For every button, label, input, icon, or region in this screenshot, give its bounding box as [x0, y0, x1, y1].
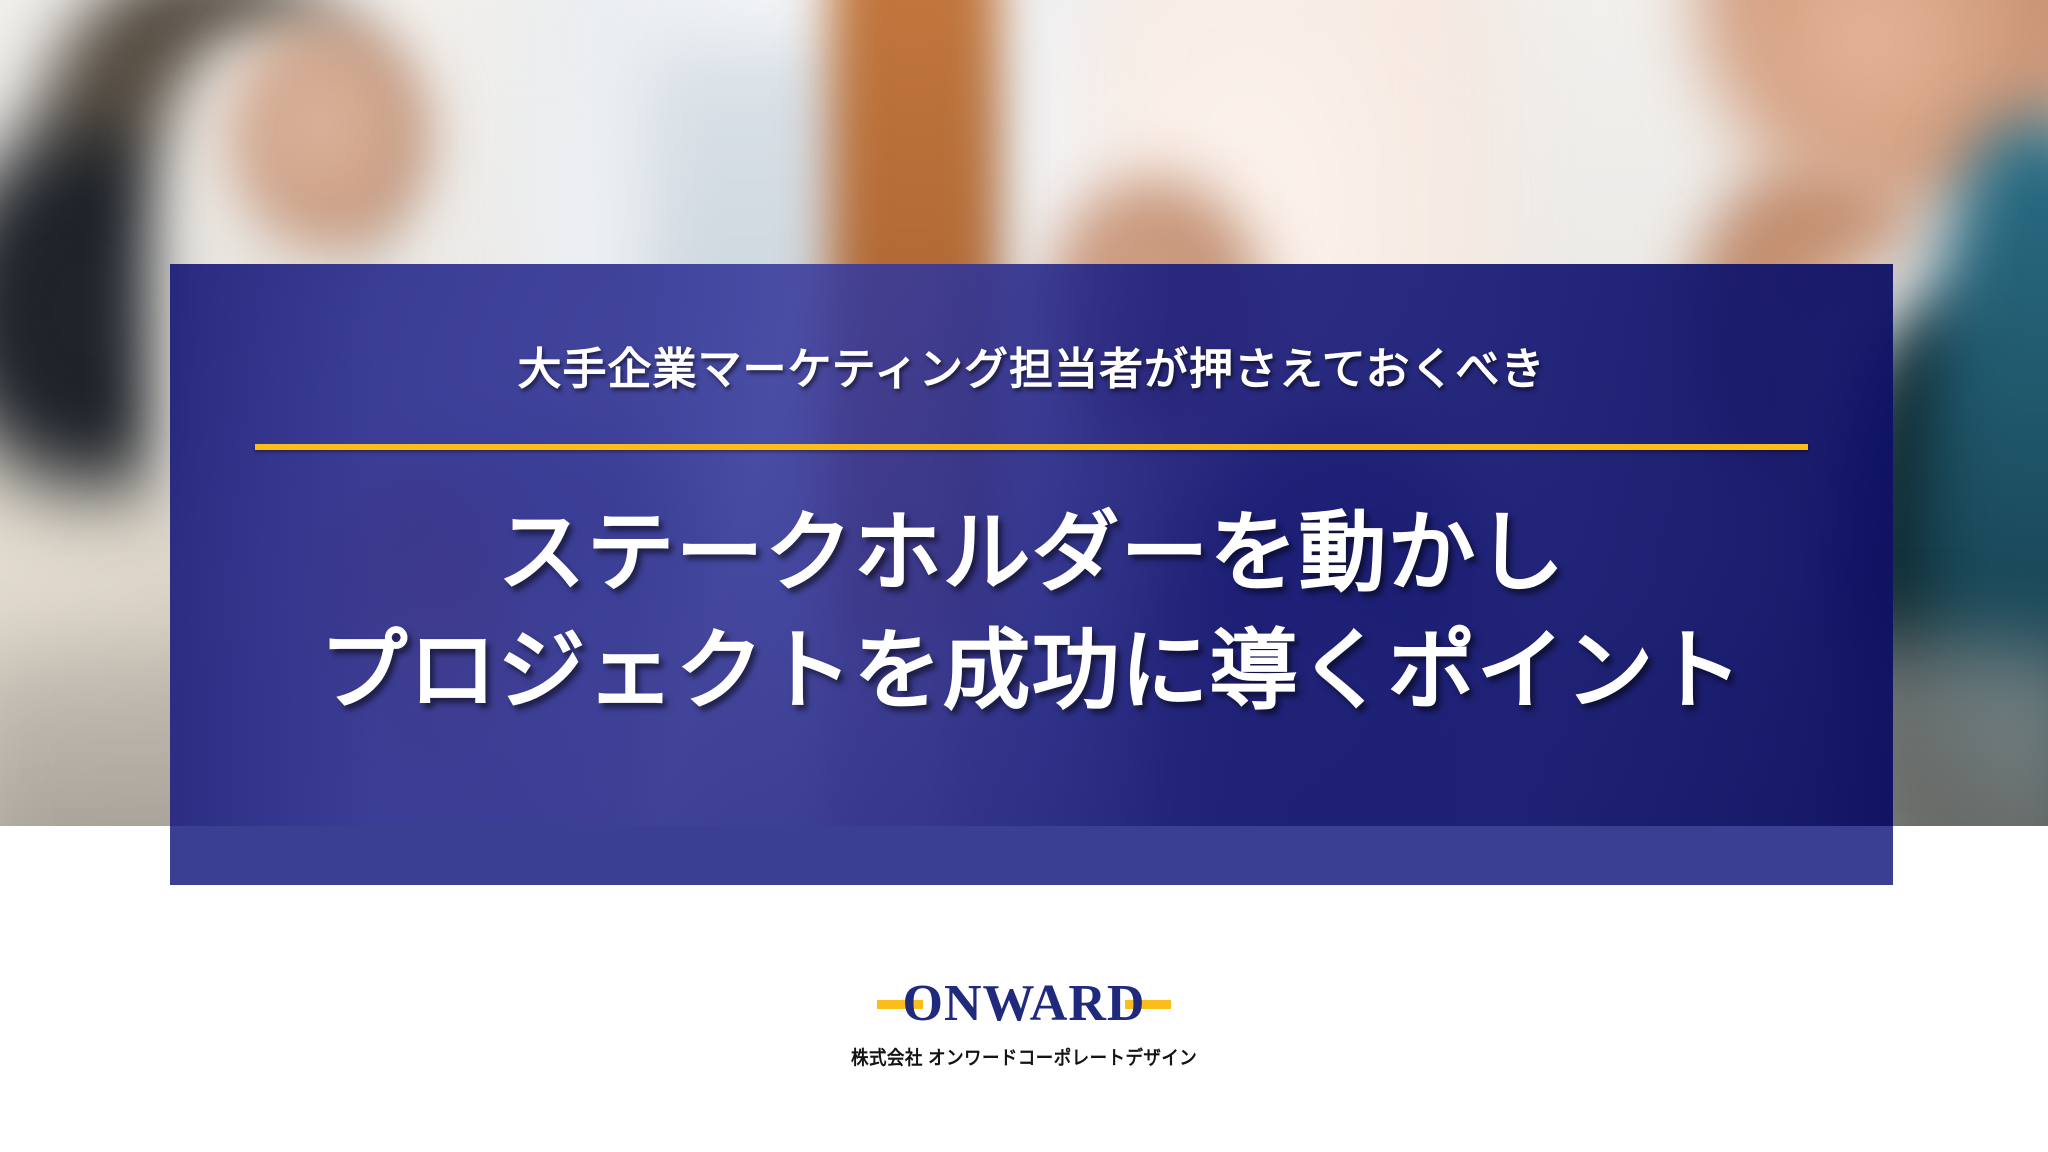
title-panel: 大手企業マーケティング担当者が押さえておくべき ステークホルダーを動かし プロジ…: [170, 264, 1893, 885]
company-name: 株式会社 オンワードコーポレートデザイン: [851, 1043, 1197, 1070]
title-panel-bottom-band: [170, 826, 1893, 885]
slide-title-line-2: プロジェクトを成功に導くポイント: [170, 612, 1893, 730]
slide-title-line-1: ステークホルダーを動かし: [170, 494, 1893, 612]
photo-blur-hand-left: [230, 20, 430, 250]
footer-logo-area: ONWARD 株式会社 オンワードコーポレートデザイン: [0, 975, 2048, 1095]
gold-divider-rule: [255, 444, 1808, 450]
title-slide: 大手企業マーケティング担当者が押さえておくべき ステークホルダーを動かし プロジ…: [0, 0, 2048, 1152]
slide-title: ステークホルダーを動かし プロジェクトを成功に導くポイント: [170, 494, 1893, 730]
logo-wordmark: ONWARD: [901, 978, 1148, 1030]
slide-subtitle: 大手企業マーケティング担当者が押さえておくべき: [170, 346, 1893, 394]
onward-logo: ONWARD: [877, 975, 1172, 1033]
